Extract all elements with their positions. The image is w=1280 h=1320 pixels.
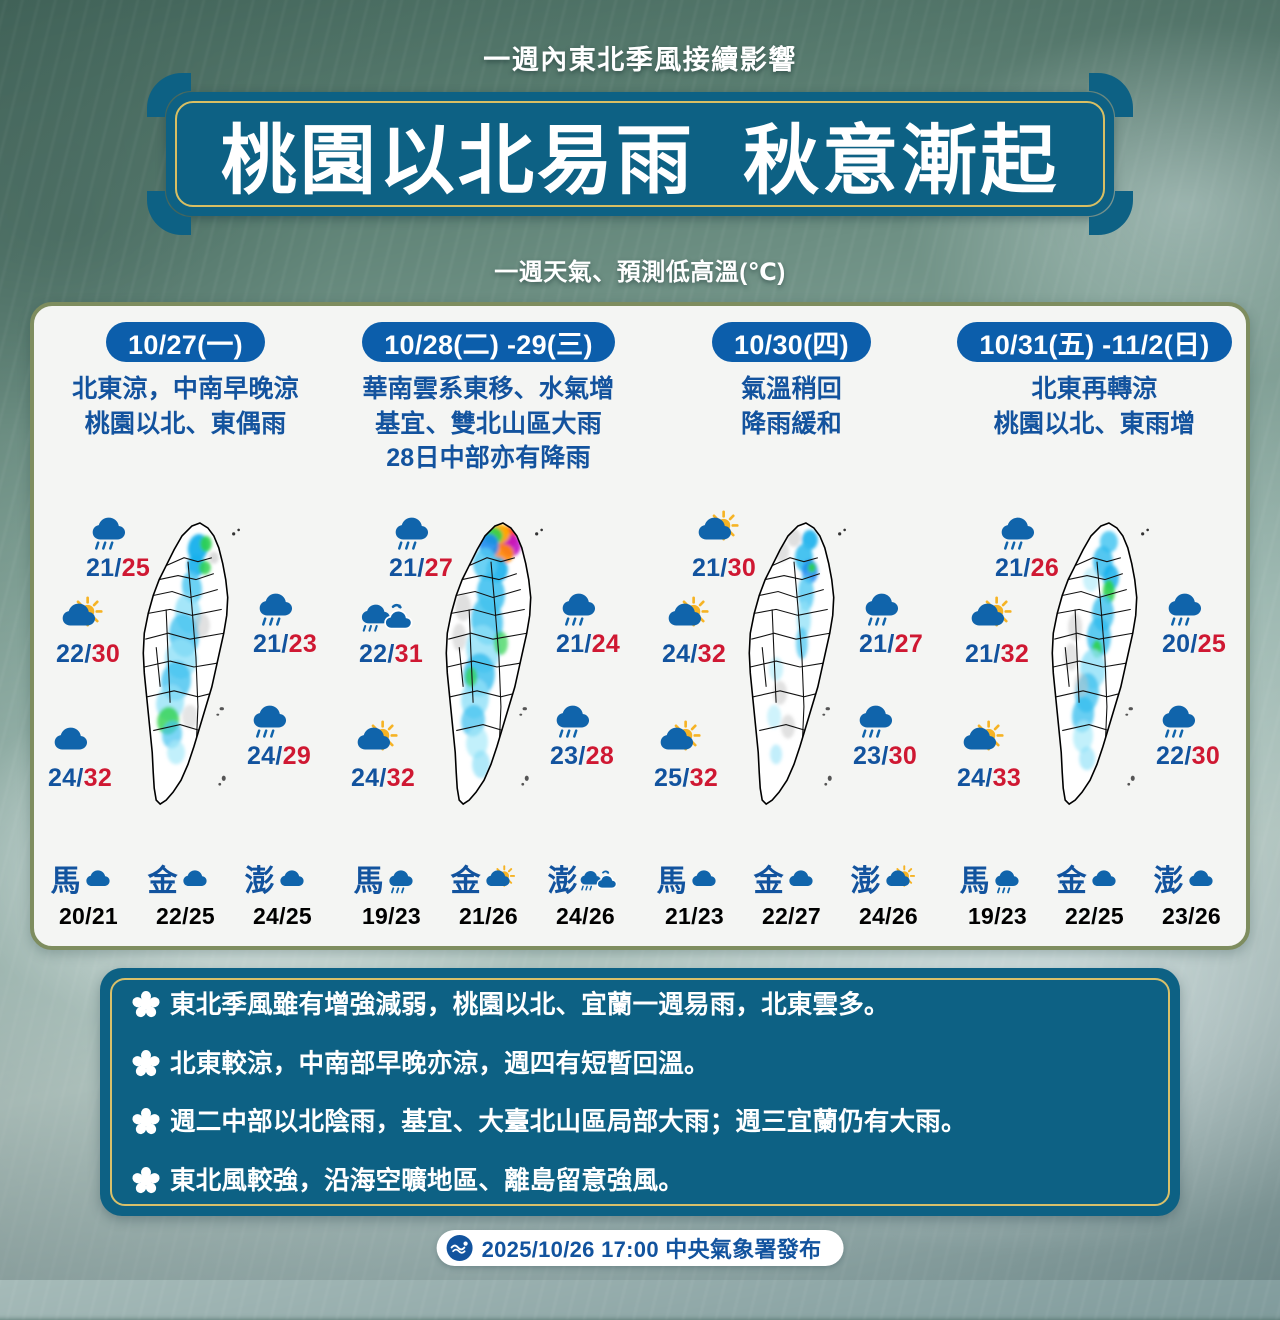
rain-icon — [825, 702, 945, 742]
regional-map-area: 21/2621/3220/2522/3024/33 — [943, 514, 1246, 824]
island-temperature: 22/25 — [138, 903, 234, 930]
sun-cloud-icon — [664, 514, 784, 554]
outlying-islands-row: 馬21/23金22/27澎24/26 — [646, 863, 937, 930]
region-temp-group-southwest: 24/32 — [323, 724, 443, 793]
temp-low: 20 — [59, 903, 85, 929]
temp-high: 25 — [1098, 903, 1124, 929]
day-headline: 北東再轉涼 桃園以北、東雨增 — [943, 372, 1246, 441]
island-name: 馬 — [354, 867, 384, 897]
region-temp-group-northwest: 21/32 — [937, 600, 1057, 669]
note-text: 週二中部以北陰雨，基宜、大臺北山區局部大雨；週三宜蘭仍有大雨。 — [170, 1107, 967, 1139]
temp-separator: / — [584, 630, 591, 658]
forecast-day-column: 10/30(四)氣溫稍回 降雨緩和21/3024/3221/2723/3025/… — [640, 306, 943, 946]
island-header: 馬 — [950, 863, 1046, 901]
sun-cloud-icon — [626, 724, 746, 764]
island-forecast: 馬20/21 — [41, 863, 137, 930]
cloud-icon — [83, 867, 127, 896]
cloud-icon — [689, 867, 733, 896]
island-forecast: 金22/25 — [138, 863, 234, 930]
rain-icon — [528, 590, 648, 630]
island-name: 馬 — [51, 867, 81, 897]
temp-low: 24 — [48, 764, 76, 792]
island-forecast: 馬19/23 — [344, 863, 440, 930]
temp-separator: / — [691, 903, 698, 929]
page-title: 桃園以北易雨 秋意漸起 — [166, 92, 1114, 216]
temp-high: 29 — [283, 742, 311, 770]
cloud-icon — [1089, 867, 1133, 896]
temp-high: 32 — [690, 764, 718, 792]
island-header: 馬 — [41, 863, 137, 901]
temp-separator: / — [85, 903, 92, 929]
temp-high: 23 — [1001, 903, 1027, 929]
region-temp-group-east: 20/25 — [1134, 590, 1254, 659]
island-header: 馬 — [647, 863, 743, 901]
temp-separator: / — [387, 640, 394, 668]
notes-panel: 東北季風雖有增強減弱，桃園以北、宜蘭一週易雨，北東雲多。北東較涼，中南部早晚亦涼… — [100, 968, 1180, 1216]
island-temperature: 22/25 — [1047, 903, 1143, 930]
temp-high: 30 — [92, 640, 120, 668]
flower-bullet-icon — [132, 1107, 160, 1135]
island-header: 金 — [441, 863, 537, 901]
region-temperature: 24/32 — [20, 764, 140, 793]
temp-high: 21 — [92, 903, 118, 929]
island-forecast: 馬21/23 — [647, 863, 743, 930]
temp-separator: / — [887, 630, 894, 658]
island-temperature: 24/26 — [538, 903, 634, 930]
temp-low: 22 — [1156, 742, 1184, 770]
region-temp-group-east: 21/24 — [528, 590, 648, 659]
date-pill-wrapper: 10/28(二) -29(三) — [337, 322, 640, 362]
rain-icon — [1128, 702, 1248, 742]
rain-icon — [522, 702, 642, 742]
region-temp-group-north: 21/26 — [967, 514, 1087, 583]
island-header: 馬 — [344, 863, 440, 901]
temp-low: 24 — [253, 903, 279, 929]
region-temp-group-southwest: 25/32 — [626, 724, 746, 793]
temp-high: 25 — [189, 903, 215, 929]
temp-high: 32 — [387, 764, 415, 792]
temp-separator: / — [1188, 903, 1195, 929]
temp-separator: / — [76, 764, 83, 792]
temp-low: 25 — [654, 764, 682, 792]
region-temperature: 21/27 — [831, 630, 951, 659]
temp-high: 26 — [1031, 554, 1059, 582]
temp-low: 21 — [459, 903, 485, 929]
island-name: 澎 — [548, 867, 578, 897]
temp-high: 27 — [425, 554, 453, 582]
outlying-islands-row: 馬20/21金22/25澎24/25 — [40, 863, 331, 930]
temp-separator: / — [114, 554, 121, 582]
region-temperature: 25/32 — [626, 764, 746, 793]
region-temp-group-southwest: 24/33 — [929, 724, 1049, 793]
temp-low: 21 — [556, 630, 584, 658]
temp-high: 27 — [795, 903, 821, 929]
island-temperature: 24/26 — [841, 903, 937, 930]
rain-icon — [1134, 590, 1254, 630]
region-temperature: 21/30 — [664, 554, 784, 583]
island-name: 馬 — [960, 867, 990, 897]
temp-separator: / — [281, 630, 288, 658]
outlying-islands-row: 馬19/23金21/26澎24/26 — [343, 863, 634, 930]
island-forecast: 金21/26 — [441, 863, 537, 930]
island-header: 澎 — [538, 863, 634, 901]
temp-separator: / — [690, 640, 697, 668]
temp-low: 19 — [362, 903, 388, 929]
forecast-panel: 10/27(一)北東涼，中南早晚涼 桃園以北、東偶雨21/2522/3021/2… — [30, 302, 1250, 950]
temp-high: 23 — [395, 903, 421, 929]
regional-map-area: 21/2722/3121/2423/2824/32 — [337, 514, 640, 824]
temp-separator: / — [182, 903, 189, 929]
island-name: 金 — [451, 867, 481, 897]
temp-separator: / — [682, 764, 689, 792]
island-temperature: 21/26 — [441, 903, 537, 930]
flower-bullet-icon — [132, 990, 160, 1018]
temp-low: 21 — [253, 630, 281, 658]
forecast-day-column: 10/28(二) -29(三)華南雲系東移、水氣增 基宜、雙北山區大雨 28日中… — [337, 306, 640, 946]
sun-cloud-icon — [634, 600, 754, 640]
island-forecast: 澎24/26 — [538, 863, 634, 930]
island-name: 澎 — [1154, 867, 1184, 897]
temp-high: 31 — [395, 640, 423, 668]
island-header: 澎 — [841, 863, 937, 901]
temp-low: 22 — [156, 903, 182, 929]
island-name: 澎 — [245, 867, 275, 897]
temp-low: 21 — [859, 630, 887, 658]
temp-separator: / — [485, 903, 492, 929]
region-temperature: 23/30 — [825, 742, 945, 771]
temp-separator: / — [788, 903, 795, 929]
temp-high: 25 — [1198, 630, 1226, 658]
region-temperature: 24/32 — [634, 640, 754, 669]
day-headline: 華南雲系東移、水氣增 基宜、雙北山區大雨 28日中部亦有降雨 — [337, 372, 640, 476]
temp-low: 21 — [86, 554, 114, 582]
temp-low: 24 — [351, 764, 379, 792]
temp-high: 26 — [1195, 903, 1221, 929]
temp-high: 25 — [122, 554, 150, 582]
temp-high: 30 — [728, 554, 756, 582]
temp-high: 32 — [698, 640, 726, 668]
temp-high: 25 — [286, 903, 312, 929]
temp-separator: / — [1190, 630, 1197, 658]
island-temperature: 23/26 — [1144, 903, 1240, 930]
title-plate: 桃園以北易雨 秋意漸起 — [166, 92, 1114, 216]
region-temp-group-southeast: 23/28 — [522, 702, 642, 771]
island-temperature: 19/23 — [950, 903, 1046, 930]
temp-separator: / — [993, 640, 1000, 668]
date-pill-wrapper: 10/30(四) — [640, 322, 943, 362]
infographic-page: 一週內東北季風接續影響 桃園以北易雨 秋意漸起 一週天氣、預測低高溫(℃) 10… — [0, 0, 1280, 1280]
temp-high: 32 — [1001, 640, 1029, 668]
temp-low: 21 — [965, 640, 993, 668]
region-temp-group-northwest: 24/32 — [634, 600, 754, 669]
temp-separator: / — [720, 554, 727, 582]
temp-separator: / — [578, 742, 585, 770]
region-temp-group-southwest: 24/32 — [20, 724, 140, 793]
island-temperature: 22/27 — [744, 903, 840, 930]
rain-icon — [386, 867, 430, 896]
temp-high: 28 — [586, 742, 614, 770]
flower-bullet-icon — [132, 1166, 160, 1194]
rain-icon — [992, 867, 1036, 896]
region-temperature: 21/32 — [937, 640, 1057, 669]
temp-low: 22 — [56, 640, 84, 668]
temp-separator: / — [275, 742, 282, 770]
subtitle-text: 一週天氣、預測低高溫(℃) — [0, 252, 1280, 287]
island-forecast: 金22/25 — [1047, 863, 1143, 930]
region-temp-group-southeast: 24/29 — [219, 702, 339, 771]
temp-low: 21 — [389, 554, 417, 582]
island-temperature: 19/23 — [344, 903, 440, 930]
temp-separator: / — [388, 903, 395, 929]
sun-cloud-icon — [323, 724, 443, 764]
day-headline: 北東涼，中南早晚涼 桃園以北、東偶雨 — [34, 372, 337, 441]
temp-low: 21 — [692, 554, 720, 582]
temp-low: 24 — [556, 903, 582, 929]
cloud-icon — [277, 867, 321, 896]
note-item: 週二中部以北陰雨，基宜、大臺北山區局部大雨；週三宜蘭仍有大雨。 — [132, 1107, 1150, 1139]
temp-high: 23 — [698, 903, 724, 929]
island-name: 澎 — [851, 867, 881, 897]
regional-map-area: 21/2522/3021/2324/2924/32 — [34, 514, 337, 824]
region-temp-group-north: 21/25 — [58, 514, 178, 583]
island-header: 金 — [744, 863, 840, 901]
publication-stamp: 2025/10/26 17:00 中央氣象署發布 — [437, 1230, 844, 1266]
rain-icon — [831, 590, 951, 630]
temp-low: 23 — [1162, 903, 1188, 929]
region-temperature: 22/30 — [28, 640, 148, 669]
cloud-icon — [180, 867, 224, 896]
sun-cloud-icon — [937, 600, 1057, 640]
island-header: 澎 — [1144, 863, 1240, 901]
rain-icon — [219, 702, 339, 742]
island-name: 馬 — [657, 867, 687, 897]
region-temperature: 24/32 — [323, 764, 443, 793]
day-headline: 氣溫稍回 降雨緩和 — [640, 372, 943, 441]
region-temperature: 24/29 — [219, 742, 339, 771]
region-temperature: 21/27 — [361, 554, 481, 583]
region-temperature: 22/31 — [331, 640, 451, 669]
island-name: 金 — [148, 867, 178, 897]
island-header: 金 — [138, 863, 234, 901]
temp-low: 23 — [550, 742, 578, 770]
publication-text: 2025/10/26 17:00 中央氣象署發布 — [482, 1232, 822, 1264]
temp-high: 33 — [993, 764, 1021, 792]
temp-low: 24 — [957, 764, 985, 792]
date-pill[interactable]: 10/31(五) -11/2(日) — [957, 322, 1231, 362]
temp-separator: / — [379, 764, 386, 792]
rain-icon — [58, 514, 178, 554]
temp-high: 26 — [892, 903, 918, 929]
cwa-logo-icon — [447, 1235, 473, 1261]
region-temp-group-southeast: 23/30 — [825, 702, 945, 771]
date-pill[interactable]: 10/27(一) — [106, 322, 265, 362]
temp-high: 24 — [592, 630, 620, 658]
temp-high: 27 — [895, 630, 923, 658]
temp-low: 23 — [853, 742, 881, 770]
temp-low: 24 — [859, 903, 885, 929]
island-name: 金 — [1057, 867, 1087, 897]
region-temperature: 22/30 — [1128, 742, 1248, 771]
temp-high: 23 — [289, 630, 317, 658]
note-text: 東北風較強，沿海空曠地區、離島留意強風。 — [170, 1166, 684, 1198]
island-forecast: 澎23/26 — [1144, 863, 1240, 930]
island-header: 金 — [1047, 863, 1143, 901]
outlying-islands-row: 馬19/23金22/25澎23/26 — [949, 863, 1240, 930]
forecast-day-column: 10/27(一)北東涼，中南早晚涼 桃園以北、東偶雨21/2522/3021/2… — [34, 306, 337, 946]
rain-cloud-icon — [580, 867, 624, 896]
region-temp-group-north: 21/27 — [361, 514, 481, 583]
sun-cloud-icon — [28, 600, 148, 640]
note-item: 東北季風雖有增強減弱，桃園以北、宜蘭一週易雨，北東雲多。 — [132, 990, 1150, 1022]
temp-low: 20 — [1162, 630, 1190, 658]
temp-separator: / — [84, 640, 91, 668]
region-temperature: 24/33 — [929, 764, 1049, 793]
region-temperature: 21/24 — [528, 630, 648, 659]
island-temperature: 21/23 — [647, 903, 743, 930]
island-forecast: 金22/27 — [744, 863, 840, 930]
date-pill[interactable]: 10/30(四) — [712, 322, 871, 362]
regional-map-area: 21/3024/3221/2723/3025/32 — [640, 514, 943, 824]
note-item: 東北風較強，沿海空曠地區、離島留意強風。 — [132, 1166, 1150, 1198]
temp-separator: / — [1023, 554, 1030, 582]
temp-separator: / — [985, 764, 992, 792]
rain-cloud-icon — [331, 600, 451, 640]
note-text: 東北季風雖有增強減弱，桃園以北、宜蘭一週易雨，北東雲多。 — [170, 990, 890, 1022]
region-temperature: 21/25 — [58, 554, 178, 583]
region-temperature: 21/23 — [225, 630, 345, 659]
island-forecast: 澎24/26 — [841, 863, 937, 930]
temp-separator: / — [885, 903, 892, 929]
sun-cloud-icon — [929, 724, 1049, 764]
temp-high: 30 — [1192, 742, 1220, 770]
temp-high: 32 — [84, 764, 112, 792]
island-forecast: 澎24/25 — [235, 863, 331, 930]
region-temperature: 20/25 — [1134, 630, 1254, 659]
region-temperature: 23/28 — [522, 742, 642, 771]
region-temp-group-northwest: 22/30 — [28, 600, 148, 669]
kicker-text: 一週內東北季風接續影響 — [0, 38, 1280, 77]
date-pill-wrapper: 10/27(一) — [34, 322, 337, 362]
island-temperature: 20/21 — [41, 903, 137, 930]
region-temp-group-northwest: 22/31 — [331, 600, 451, 669]
temp-separator: / — [279, 903, 286, 929]
temp-separator: / — [1184, 742, 1191, 770]
temp-low: 24 — [662, 640, 690, 668]
island-header: 澎 — [235, 863, 331, 901]
sun-cloud-icon — [883, 867, 927, 896]
region-temperature: 21/26 — [967, 554, 1087, 583]
temp-separator: / — [881, 742, 888, 770]
flower-bullet-icon — [132, 1049, 160, 1077]
temp-separator: / — [417, 554, 424, 582]
note-text: 北東較涼，中南部早晚亦涼，週四有短暫回溫。 — [170, 1049, 710, 1081]
rain-icon — [967, 514, 1087, 554]
notes-list: 東北季風雖有增強減弱，桃園以北、宜蘭一週易雨，北東雲多。北東較涼，中南部早晚亦涼… — [132, 990, 1150, 1198]
temp-high: 26 — [492, 903, 518, 929]
cloud-icon — [20, 724, 140, 764]
island-name: 金 — [754, 867, 784, 897]
temp-separator: / — [994, 903, 1001, 929]
rain-icon — [361, 514, 481, 554]
region-temp-group-southeast: 22/30 — [1128, 702, 1248, 771]
forecast-day-column: 10/31(五) -11/2(日)北東再轉涼 桃園以北、東雨增21/2621/3… — [943, 306, 1246, 946]
temp-high: 26 — [589, 903, 615, 929]
island-forecast: 馬19/23 — [950, 863, 1046, 930]
region-temp-group-east: 21/23 — [225, 590, 345, 659]
date-pill[interactable]: 10/28(二) -29(三) — [362, 322, 615, 362]
temp-low: 19 — [968, 903, 994, 929]
temp-low: 22 — [359, 640, 387, 668]
region-temp-group-east: 21/27 — [831, 590, 951, 659]
sun-cloud-icon — [483, 867, 527, 896]
temp-low: 21 — [995, 554, 1023, 582]
temp-separator: / — [582, 903, 589, 929]
note-item: 北東較涼，中南部早晚亦涼，週四有短暫回溫。 — [132, 1049, 1150, 1081]
temp-high: 30 — [889, 742, 917, 770]
temp-separator: / — [1091, 903, 1098, 929]
temp-low: 21 — [665, 903, 691, 929]
rain-icon — [225, 590, 345, 630]
cloud-icon — [786, 867, 830, 896]
temp-low: 24 — [247, 742, 275, 770]
temp-low: 22 — [762, 903, 788, 929]
island-temperature: 24/25 — [235, 903, 331, 930]
region-temp-group-north: 21/30 — [664, 514, 784, 583]
cloud-icon — [1186, 867, 1230, 896]
temp-low: 22 — [1065, 903, 1091, 929]
date-pill-wrapper: 10/31(五) -11/2(日) — [943, 322, 1246, 362]
